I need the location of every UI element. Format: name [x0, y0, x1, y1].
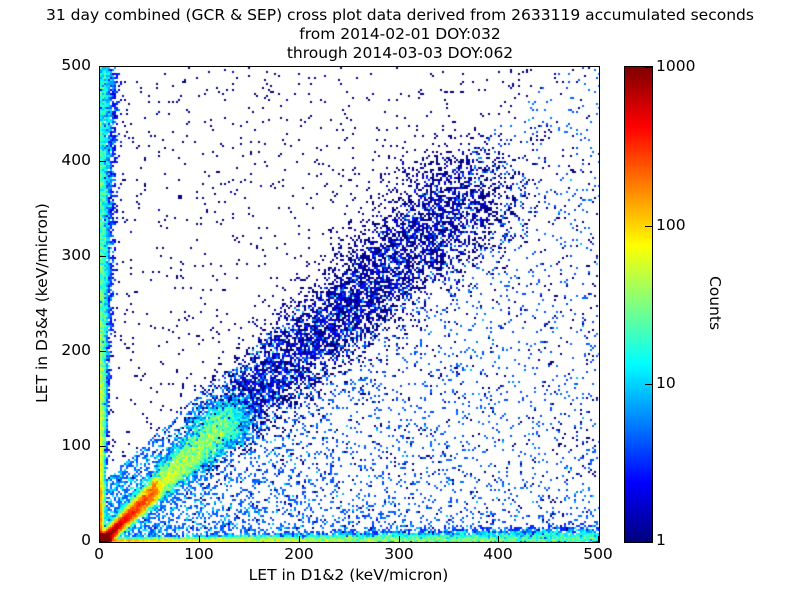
y-ticklabel-400: 400 [61, 151, 91, 169]
plot-axes [99, 66, 600, 543]
colorbar-label: Counts [706, 153, 724, 453]
y-ticklabel-200: 200 [61, 341, 91, 359]
y-tick-200 [100, 351, 106, 352]
x-ticklabel-0: 0 [94, 545, 104, 563]
figure-canvas: 31 day combined (GCR & SEP) cross plot d… [0, 0, 800, 600]
x-tick-0 [99, 536, 100, 542]
y-tick-400 [100, 161, 106, 162]
colorbar-gradient [625, 67, 652, 542]
y-tick-300 [100, 256, 106, 257]
x-ticklabel-300: 300 [384, 545, 414, 563]
y-ticklabel-300: 300 [61, 246, 91, 264]
x-axis-label: LET in D1&2 (keV/micron) [99, 566, 598, 584]
y-ticklabel-0: 0 [81, 531, 91, 549]
colorbar-ticklabel-1000: 1000 [656, 57, 695, 75]
x-ticklabel-500: 500 [583, 545, 613, 563]
colorbar-tick-1000 [645, 67, 652, 68]
colorbar-tick-100 [645, 226, 652, 227]
y-tick-100 [100, 446, 106, 447]
colorbar-tick-10 [645, 384, 652, 385]
colorbar-ticklabel-1: 1 [656, 531, 666, 549]
scatter-density-plot [100, 67, 599, 542]
y-tick-500 [100, 66, 106, 67]
x-tick-300 [399, 536, 400, 542]
y-tick-0 [100, 541, 106, 542]
colorbar-ticklabel-10: 10 [656, 374, 676, 392]
title-line-1: 31 day combined (GCR & SEP) cross plot d… [0, 6, 800, 25]
x-tick-400 [498, 536, 499, 542]
x-tick-200 [299, 536, 300, 542]
colorbar-ticklabel-100: 100 [656, 216, 686, 234]
x-ticklabel-200: 200 [284, 545, 314, 563]
plot-title: 31 day combined (GCR & SEP) cross plot d… [0, 6, 800, 63]
title-line-2: from 2014-02-01 DOY:032 [0, 25, 800, 44]
colorbar-tick-1 [645, 541, 652, 542]
colorbar [624, 66, 653, 543]
x-tick-100 [199, 536, 200, 542]
y-ticklabel-100: 100 [61, 436, 91, 454]
x-tick-500 [598, 536, 599, 542]
y-axis-label: LET in D3&4 (keV/micron) [33, 53, 51, 553]
x-ticklabel-100: 100 [184, 545, 214, 563]
x-ticklabel-400: 400 [483, 545, 513, 563]
y-ticklabel-500: 500 [61, 56, 91, 74]
